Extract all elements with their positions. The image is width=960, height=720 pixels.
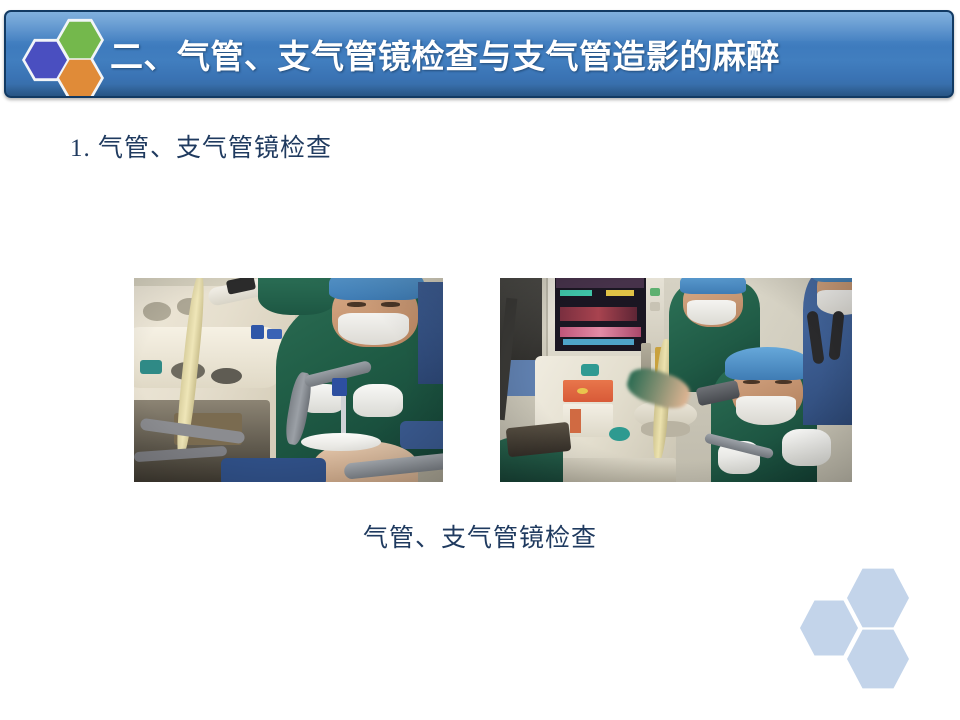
- page-title: 二、气管、支气管镜检查与支气管造影的麻醉: [110, 30, 780, 78]
- corner-hex-top-icon: [847, 568, 909, 628]
- photo-left-content: [134, 278, 443, 482]
- photo-bronchoscopy-left: [134, 278, 443, 482]
- header-shade-overlay: [6, 84, 952, 96]
- photo-caption: 气管、支气管镜检查: [0, 518, 960, 554]
- corner-hexagon-decoration: [800, 568, 945, 708]
- slide-canvas: 二、气管、支气管镜检查与支气管造影的麻醉 1. 气管、支气管镜检查: [0, 0, 960, 720]
- photo-right-content: [500, 278, 852, 482]
- photo-bronchoscopy-right: [500, 278, 852, 482]
- corner-hex-left-icon: [800, 600, 858, 656]
- slide-header-bar: 二、气管、支气管镜检查与支气管造影的麻醉: [4, 10, 954, 98]
- corner-hex-bottom-icon: [847, 629, 909, 689]
- section-subtitle: 1. 气管、支气管镜检查: [70, 128, 332, 164]
